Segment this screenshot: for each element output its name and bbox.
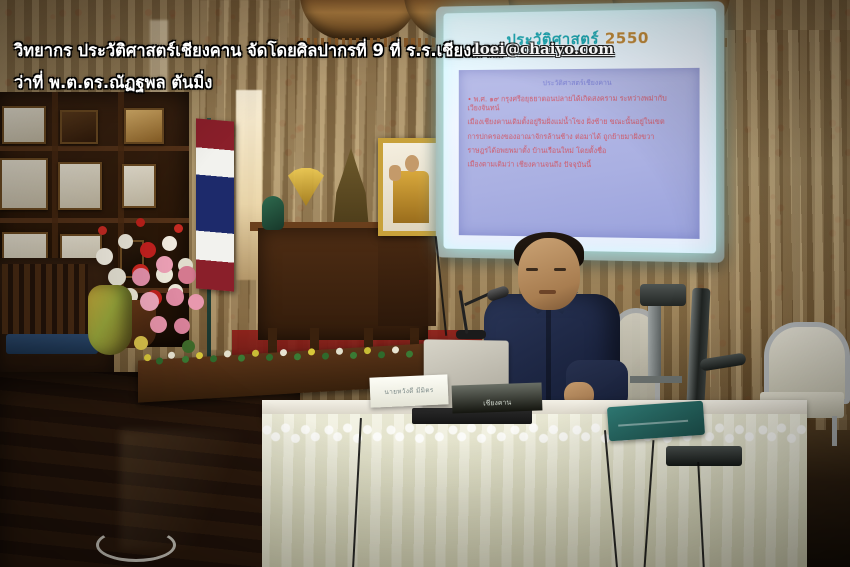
name-placard-dark: เชียงคาน [452,382,543,413]
certificate-frame [0,158,48,210]
white-cable-coil [96,528,176,562]
certificate-frame [124,108,164,144]
slide-heading: ประวัติศาสตร์เชียงคาน [459,77,700,90]
presenter-head [518,238,580,310]
certificate-frame [60,110,98,144]
slide-body-line: การปกครองของอาณาจักรล้านช้าง ต่อมาได้ ถู… [467,132,690,142]
slide-body-line: เมืองตามเดิมว่า เชียงคานจนถึง ปัจจุบันนี… [467,160,690,171]
slide-content-box: ประวัติศาสตร์เชียงคาน • พ.ศ. ๑๙ กรุงศรีอ… [459,68,700,239]
portrait-hand [389,165,401,181]
chair-slats [2,264,88,334]
slide-body-line: ราษฎรได้อพยพมาตั้ง บ้านเรือนใหม่ โดยตั้ง… [467,146,690,156]
teal-device [607,401,705,442]
chair-cushion [6,334,98,354]
device-highlight [618,420,688,427]
slide-body-line: • พ.ศ. ๑๙ กรุงศรีอยุธยาตอนปลายได้เกิดสงค… [467,93,690,113]
photo-canvas: ประวัติศาสตร์ 2550 ประวัติศาสตร์เชียงคาน… [0,0,850,567]
caption-line-1: วิทยากร ประวัติศาสตร์เชียงคาน จัดโดยศิลป… [14,38,503,64]
caption-line-2: ว่าที่ พ.ต.ดร.ณัฏฐพล ตันมิ่ง [14,70,212,96]
slide-body-line: เมืองเชียงคานเดิมตั้งอยู่ริมฝั่งแม่น้ำโข… [467,117,690,127]
thai-flag [196,118,234,291]
microphone-base [456,330,486,339]
certificate-frame [58,162,102,210]
room-background: ประวัติศาสตร์ 2550 ประวัติศาสตร์เชียงคาน… [0,0,850,567]
visualizer-base [666,446,742,466]
presenter-mouth [539,290,556,294]
placard-white-text: นายหวังดี มีมิตร [384,385,434,397]
watermark-text: loei@chaiyo.com [474,40,614,58]
presenter-eye-left [526,268,538,271]
presenter-eye-right [554,268,566,271]
portrait-head [405,155,419,172]
placard-dark-text: เชียงคาน [483,398,511,410]
visualizer-post [648,300,661,378]
certificate-frame [122,164,156,208]
certificate-frame [2,106,46,144]
portrait-easel [378,226,436,326]
visualizer-foot [630,376,682,383]
royal-portrait [378,138,444,236]
visualizer-camera-head [640,284,686,306]
name-placard-white: นายหวังดี มีมิตร [369,374,448,407]
green-vessel [262,196,284,230]
